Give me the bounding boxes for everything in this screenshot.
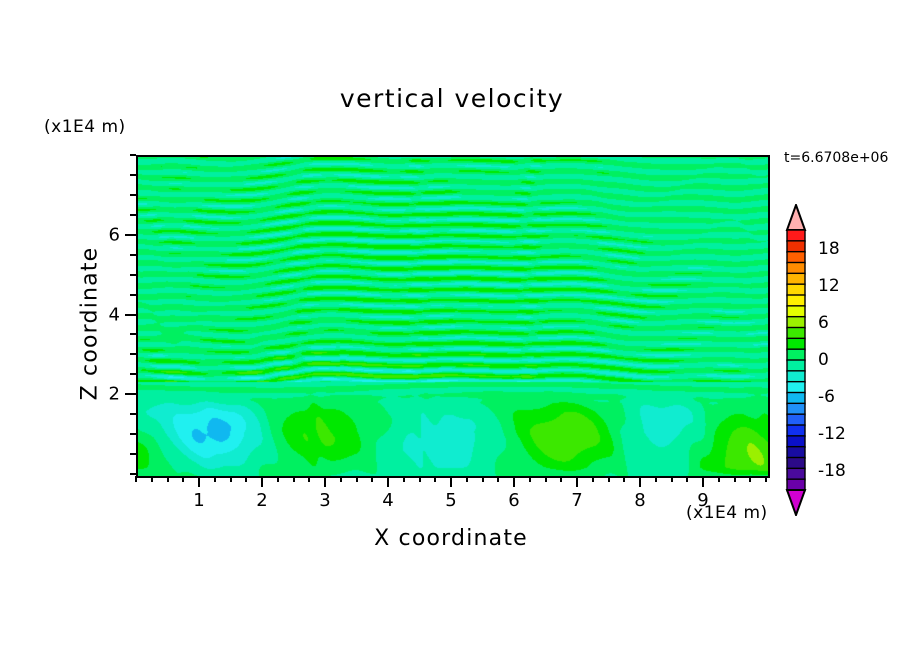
x-tick-minor xyxy=(482,476,484,482)
colorbar xyxy=(782,204,810,516)
x-tick-minor xyxy=(608,476,610,482)
x-tick-label: 1 xyxy=(193,490,204,511)
x-tick-minor xyxy=(230,476,232,482)
colorbar-tick-label: 0 xyxy=(818,350,829,370)
y-tick-minor xyxy=(130,174,136,176)
y-tick-major xyxy=(125,314,136,316)
y-axis-title: Z coordinate xyxy=(78,209,103,439)
colorbar-band xyxy=(787,306,805,317)
x-tick-label: 3 xyxy=(319,490,330,511)
x-tick-label: 4 xyxy=(382,490,393,511)
x-tick-minor xyxy=(293,476,295,482)
colorbar-band xyxy=(787,425,805,436)
colorbar-band xyxy=(787,295,805,306)
x-tick-minor xyxy=(623,476,625,482)
colorbar-band xyxy=(787,317,805,328)
y-tick-minor xyxy=(130,433,136,435)
y-tick-minor xyxy=(130,154,136,156)
colorbar-cap-max xyxy=(787,205,805,230)
colorbar-band xyxy=(787,241,805,252)
colorbar-band xyxy=(787,371,805,382)
x-tick-minor xyxy=(419,476,421,482)
x-tick-minor xyxy=(277,476,279,482)
colorbar-tick-label: 18 xyxy=(818,239,840,259)
x-tick-minor xyxy=(135,476,137,482)
y-tick-minor xyxy=(130,353,136,355)
x-tick-major xyxy=(198,476,200,487)
colorbar-band xyxy=(787,273,805,284)
y-tick-minor xyxy=(130,274,136,276)
x-axis-title: X coordinate xyxy=(136,526,766,551)
colorbar-band xyxy=(787,263,805,274)
colorbar-band xyxy=(787,468,805,479)
colorbar-swatches xyxy=(782,204,810,516)
colorbar-band xyxy=(787,328,805,339)
x-tick-minor xyxy=(308,476,310,482)
time-annotation: t=6.6708e+06 xyxy=(784,150,888,166)
y-tick-minor xyxy=(130,194,136,196)
x-tick-minor xyxy=(182,476,184,482)
x-tick-minor xyxy=(734,476,736,482)
x-tick-minor xyxy=(749,476,751,482)
colorbar-tick-label: 6 xyxy=(818,313,829,333)
y-tick-major xyxy=(125,393,136,395)
contour-field-canvas xyxy=(138,157,768,476)
colorbar-band xyxy=(787,360,805,371)
colorbar-tick-label: -6 xyxy=(818,387,835,407)
colorbar-band xyxy=(787,230,805,241)
x-tick-major xyxy=(450,476,452,487)
x-tick-minor xyxy=(560,476,562,482)
x-tick-minor xyxy=(671,476,673,482)
y-tick-minor xyxy=(130,294,136,296)
x-tick-minor xyxy=(592,476,594,482)
colorbar-band xyxy=(787,338,805,349)
x-tick-minor xyxy=(151,476,153,482)
x-tick-major xyxy=(702,476,704,487)
x-tick-minor xyxy=(214,476,216,482)
x-tick-label: 5 xyxy=(445,490,456,511)
contour-plot-area xyxy=(136,155,770,478)
colorbar-band xyxy=(787,403,805,414)
colorbar-band xyxy=(787,252,805,263)
y-tick-minor xyxy=(130,453,136,455)
figure-canvas: vertical velocity (x1E4 m) t=6.6708e+06 … xyxy=(0,0,904,654)
x-tick-minor xyxy=(655,476,657,482)
x-tick-minor xyxy=(245,476,247,482)
y-tick-minor xyxy=(130,254,136,256)
x-tick-minor xyxy=(529,476,531,482)
colorbar-tick-label: -12 xyxy=(818,424,846,444)
colorbar-band xyxy=(787,284,805,295)
x-tick-minor xyxy=(167,476,169,482)
x-axis-units-label: (x1E4 m) xyxy=(686,503,768,523)
colorbar-band xyxy=(787,447,805,458)
x-tick-minor xyxy=(497,476,499,482)
colorbar-band xyxy=(787,349,805,360)
x-tick-major xyxy=(576,476,578,487)
x-tick-label: 8 xyxy=(634,490,645,511)
x-tick-minor xyxy=(340,476,342,482)
x-tick-minor xyxy=(434,476,436,482)
x-tick-minor xyxy=(765,476,767,482)
x-tick-minor xyxy=(718,476,720,482)
x-tick-major xyxy=(639,476,641,487)
y-tick-major xyxy=(125,234,136,236)
y-tick-minor xyxy=(130,473,136,475)
y-tick-minor xyxy=(130,333,136,335)
page-title: vertical velocity xyxy=(0,84,904,113)
colorbar-band xyxy=(787,458,805,469)
colorbar-band xyxy=(787,393,805,404)
x-tick-label: 2 xyxy=(256,490,267,511)
x-tick-minor xyxy=(356,476,358,482)
x-tick-major xyxy=(324,476,326,487)
y-tick-minor xyxy=(130,413,136,415)
x-tick-minor xyxy=(466,476,468,482)
colorbar-band xyxy=(787,479,805,490)
y-tick-minor xyxy=(130,373,136,375)
x-tick-minor xyxy=(686,476,688,482)
y-axis-units-label: (x1E4 m) xyxy=(44,117,126,137)
x-tick-major xyxy=(261,476,263,487)
x-tick-major xyxy=(387,476,389,487)
colorbar-tick-label: -18 xyxy=(818,461,846,481)
colorbar-band xyxy=(787,382,805,393)
colorbar-band xyxy=(787,436,805,447)
x-tick-label: 6 xyxy=(508,490,519,511)
x-tick-label: 7 xyxy=(571,490,582,511)
x-tick-minor xyxy=(403,476,405,482)
x-tick-minor xyxy=(545,476,547,482)
y-tick-minor xyxy=(130,214,136,216)
colorbar-band xyxy=(787,414,805,425)
x-tick-minor xyxy=(371,476,373,482)
x-tick-major xyxy=(513,476,515,487)
colorbar-tick-label: 12 xyxy=(818,276,840,296)
colorbar-cap-min xyxy=(787,490,805,515)
